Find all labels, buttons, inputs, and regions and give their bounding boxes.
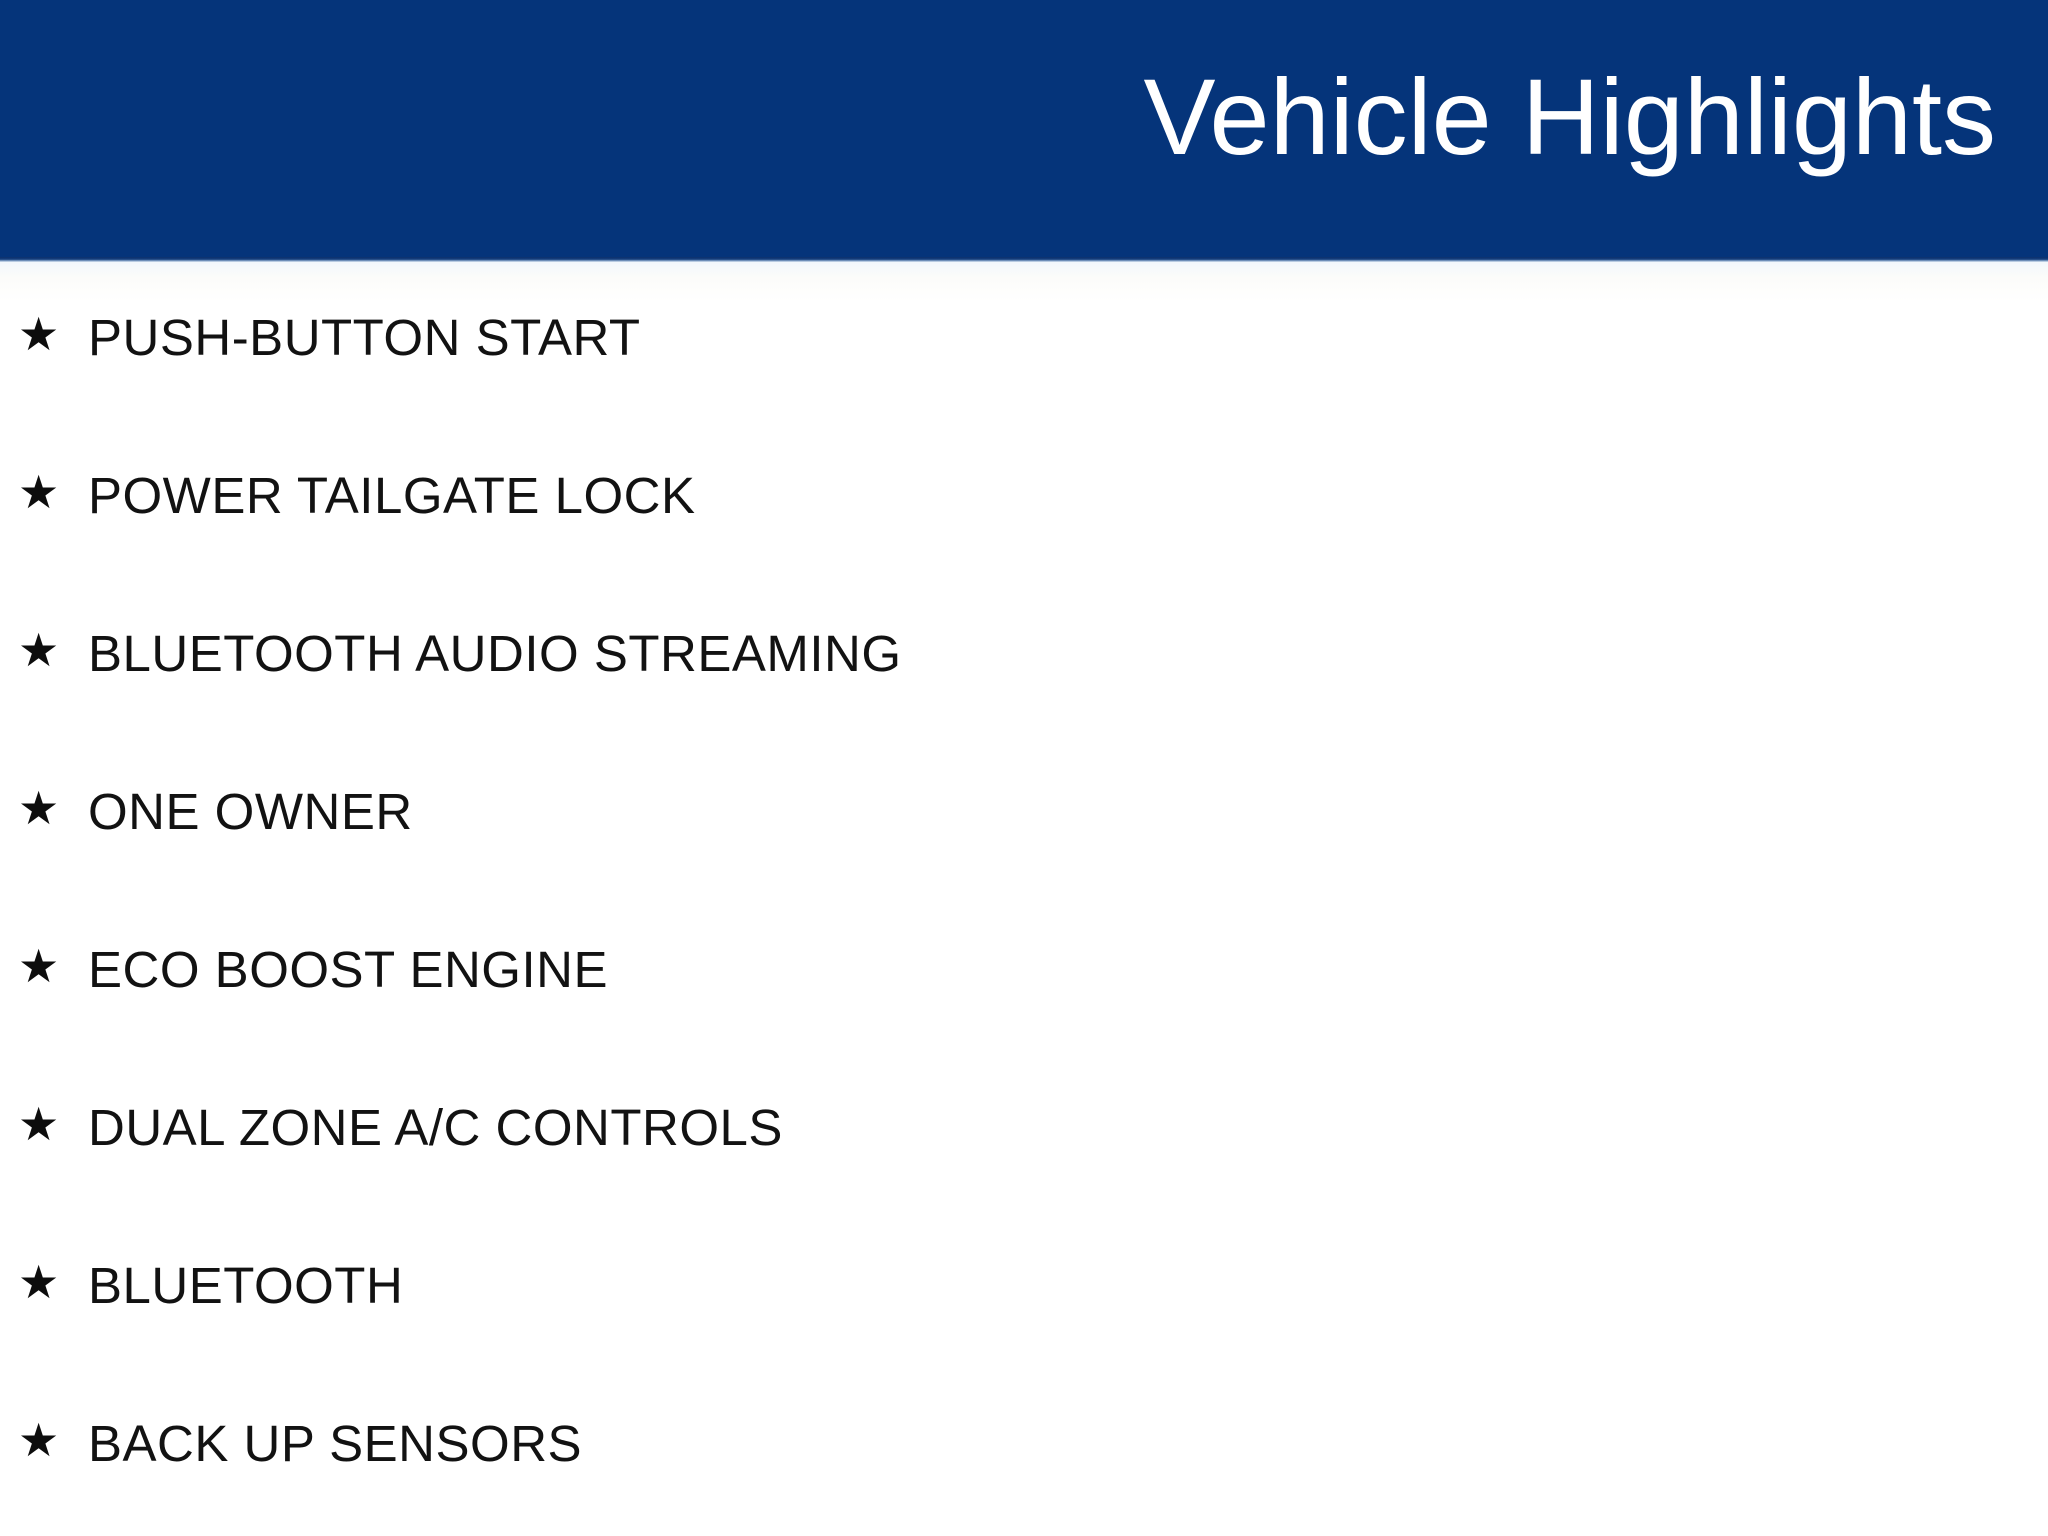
page-title: Vehicle Highlights — [1143, 63, 1996, 171]
list-item: ★ BLUETOOTH — [18, 1253, 403, 1317]
star-icon: ★ — [18, 1417, 60, 1463]
list-item: ★ DUAL ZONE A/C CONTROLS — [18, 1095, 783, 1159]
list-item: ★ BLUETOOTH AUDIO STREAMING — [18, 621, 902, 685]
highlight-label: BLUETOOTH — [88, 1260, 403, 1311]
highlight-label: BLUETOOTH AUDIO STREAMING — [88, 628, 902, 679]
highlight-label: BACK UP SENSORS — [88, 1418, 582, 1469]
list-item: ★ PUSH-BUTTON START — [18, 305, 641, 369]
highlight-label: PUSH-BUTTON START — [88, 312, 641, 363]
list-item: ★ BACK UP SENSORS — [18, 1411, 582, 1475]
highlight-label: DUAL ZONE A/C CONTROLS — [88, 1102, 783, 1153]
vehicle-highlights-page: Vehicle Highlights ★ PUSH-BUTTON START ★… — [0, 0, 2048, 1536]
star-icon: ★ — [18, 311, 60, 357]
list-item: ★ POWER TAILGATE LOCK — [18, 463, 695, 527]
star-icon: ★ — [18, 469, 60, 515]
star-icon: ★ — [18, 785, 60, 831]
highlight-label: POWER TAILGATE LOCK — [88, 470, 695, 521]
list-item: ★ ECO BOOST ENGINE — [18, 937, 608, 1001]
star-icon: ★ — [18, 943, 60, 989]
star-icon: ★ — [18, 627, 60, 673]
header-banner: Vehicle Highlights — [0, 0, 2048, 262]
highlight-label: ECO BOOST ENGINE — [88, 944, 608, 995]
star-icon: ★ — [18, 1259, 60, 1305]
star-icon: ★ — [18, 1101, 60, 1147]
highlight-label: ONE OWNER — [88, 786, 413, 837]
list-item: ★ ONE OWNER — [18, 779, 413, 843]
vehicle-highlights-list: ★ PUSH-BUTTON START ★ POWER TAILGATE LOC… — [0, 262, 2048, 1536]
